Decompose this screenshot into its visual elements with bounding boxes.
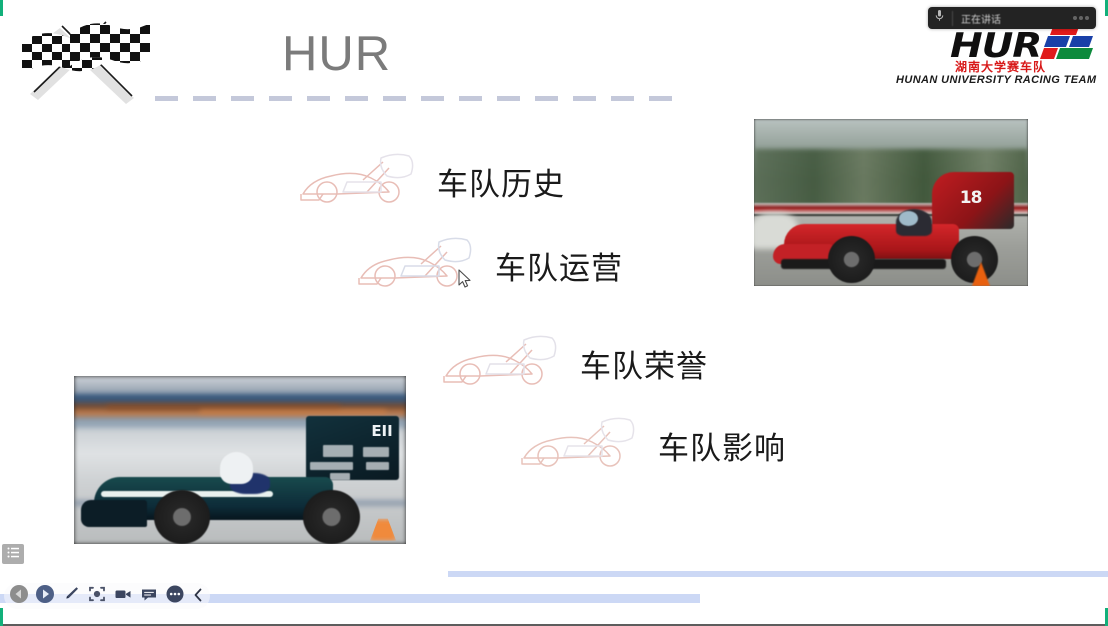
more-dots-icon — [165, 584, 185, 609]
slide-list-button[interactable] — [2, 544, 24, 564]
race-car-outline-icon — [297, 148, 423, 215]
focus-frame-icon — [87, 584, 107, 609]
agenda-item-0[interactable]: 车队历史 — [297, 148, 565, 215]
video-camera-icon — [113, 584, 133, 609]
microphone-icon — [935, 9, 944, 27]
agenda-label-0: 车队历史 — [437, 159, 565, 204]
agenda-label-2: 车队荣誉 — [580, 341, 708, 386]
pencil-icon — [61, 584, 81, 609]
list-icon — [7, 545, 20, 563]
record-video-button[interactable] — [112, 585, 134, 607]
chevron-left-icon — [193, 588, 203, 605]
logo-chinese-name: 湖南大学赛车队 — [955, 58, 1046, 75]
more-options-button[interactable] — [164, 585, 186, 607]
accent-bar-upper — [448, 571, 1108, 577]
agenda-label-1: 车队运营 — [495, 243, 623, 288]
screenshot-button[interactable] — [86, 585, 108, 607]
race-car-outline-icon — [355, 232, 481, 299]
presentation-toolbar — [4, 583, 210, 609]
race-car-outline-icon — [518, 412, 644, 479]
agenda-item-3[interactable]: 车队影响 — [518, 412, 786, 479]
agenda-item-2[interactable]: 车队荣誉 — [440, 330, 708, 397]
title-dashed-rule — [155, 96, 686, 101]
previous-slide-button[interactable] — [8, 585, 30, 607]
chat-bubble-icon — [139, 584, 159, 609]
annotate-pen-button[interactable] — [60, 585, 82, 607]
collapse-toolbar-button[interactable] — [190, 585, 206, 607]
teal-car-number: EII — [371, 422, 392, 440]
red-formula-car-photo: 18 — [754, 119, 1028, 286]
play-button[interactable] — [34, 585, 56, 607]
teal-formula-car-photo: EII — [74, 376, 406, 544]
race-car-outline-icon — [440, 330, 566, 397]
logo-english-name: HUNAN UNIVERSITY RACING TEAM — [896, 74, 1096, 86]
agenda-item-1[interactable]: 车队运营 — [355, 232, 623, 299]
agenda-label-3: 车队影响 — [658, 423, 786, 468]
red-car-number: 18 — [960, 188, 982, 208]
presentation-screen: HUR HUR 湖南大学赛车队 HUNAN UNIVERSITY RACING … — [0, 0, 1108, 626]
more-dots-icon[interactable] — [1073, 16, 1089, 20]
speaking-status-bar[interactable]: 正在讲话 — [928, 7, 1096, 29]
page-title: HUR — [282, 30, 391, 79]
logo-color-blocks-icon — [1038, 24, 1094, 68]
corner-mark-bottom-left — [0, 608, 3, 626]
corner-mark-top-left — [0, 0, 3, 16]
previous-arrow-icon — [9, 584, 29, 609]
play-icon — [35, 584, 55, 609]
hur-team-logo: HUR 湖南大学赛车队 HUNAN UNIVERSITY RACING TEAM — [896, 26, 1096, 94]
speaking-status-text: 正在讲话 — [952, 11, 1073, 26]
checkered-flags-icon — [8, 6, 168, 106]
chat-button[interactable] — [138, 585, 160, 607]
